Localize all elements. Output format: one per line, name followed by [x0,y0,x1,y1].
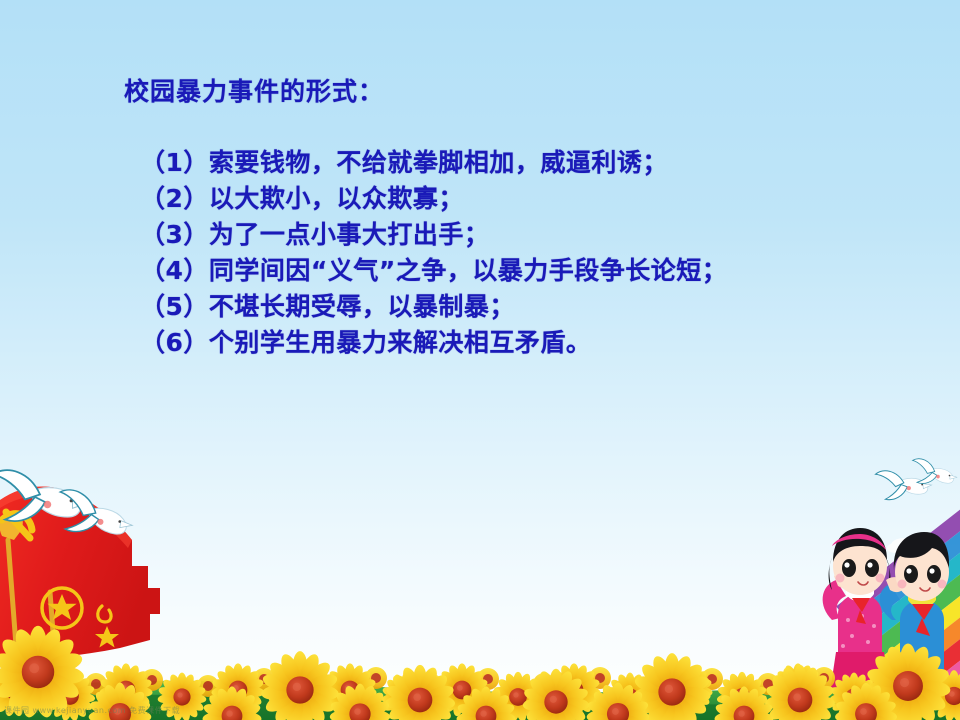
list-item: （3）为了一点小事大打出手； [140,217,727,253]
rainbow-graphic [836,397,960,712]
list-item: （4）同学间因“义气”之争，以暴力手段争长论短； [140,253,727,289]
slide-text-area: 校园暴力事件的形式： （1）索要钱物，不给就拳脚相加，威逼利诱； （2）以大欺小… [0,0,960,420]
dove-icon [875,466,932,501]
watermark-text: 课件园 www.kejianyuan.com 免费课件下载 [4,705,180,716]
boy-character-graphic [880,532,949,712]
presentation-slide: 校园暴力事件的形式： （1）索要钱物，不给就拳脚相加，威逼利诱； （2）以大欺小… [0,0,960,720]
dove-icon [0,470,88,521]
cloud-graphic [851,538,919,561]
young-pioneers-emblem-icon [95,606,119,648]
page-title: 校园暴力事件的形式： [124,72,384,108]
dove-icon [911,458,958,486]
youth-league-star-icon [42,588,82,628]
dove-icon [55,489,136,540]
list-item: （6）个别学生用暴力来解决相互矛盾。 [140,325,727,361]
girl-character-graphic [823,528,891,720]
red-flag-graphic [0,486,160,672]
list-item: （2）以大欺小，以众欺寡； [140,181,727,217]
hammer-and-sickle-icon [2,512,32,538]
bullet-list: （1）索要钱物，不给就拳脚相加，威逼利诱； （2）以大欺小，以众欺寡； （3）为… [140,145,727,361]
list-item: （5）不堪长期受辱，以暴制暴； [140,289,727,325]
list-item: （1）索要钱物，不给就拳脚相加，威逼利诱； [140,145,727,181]
flag-pole [8,540,56,672]
